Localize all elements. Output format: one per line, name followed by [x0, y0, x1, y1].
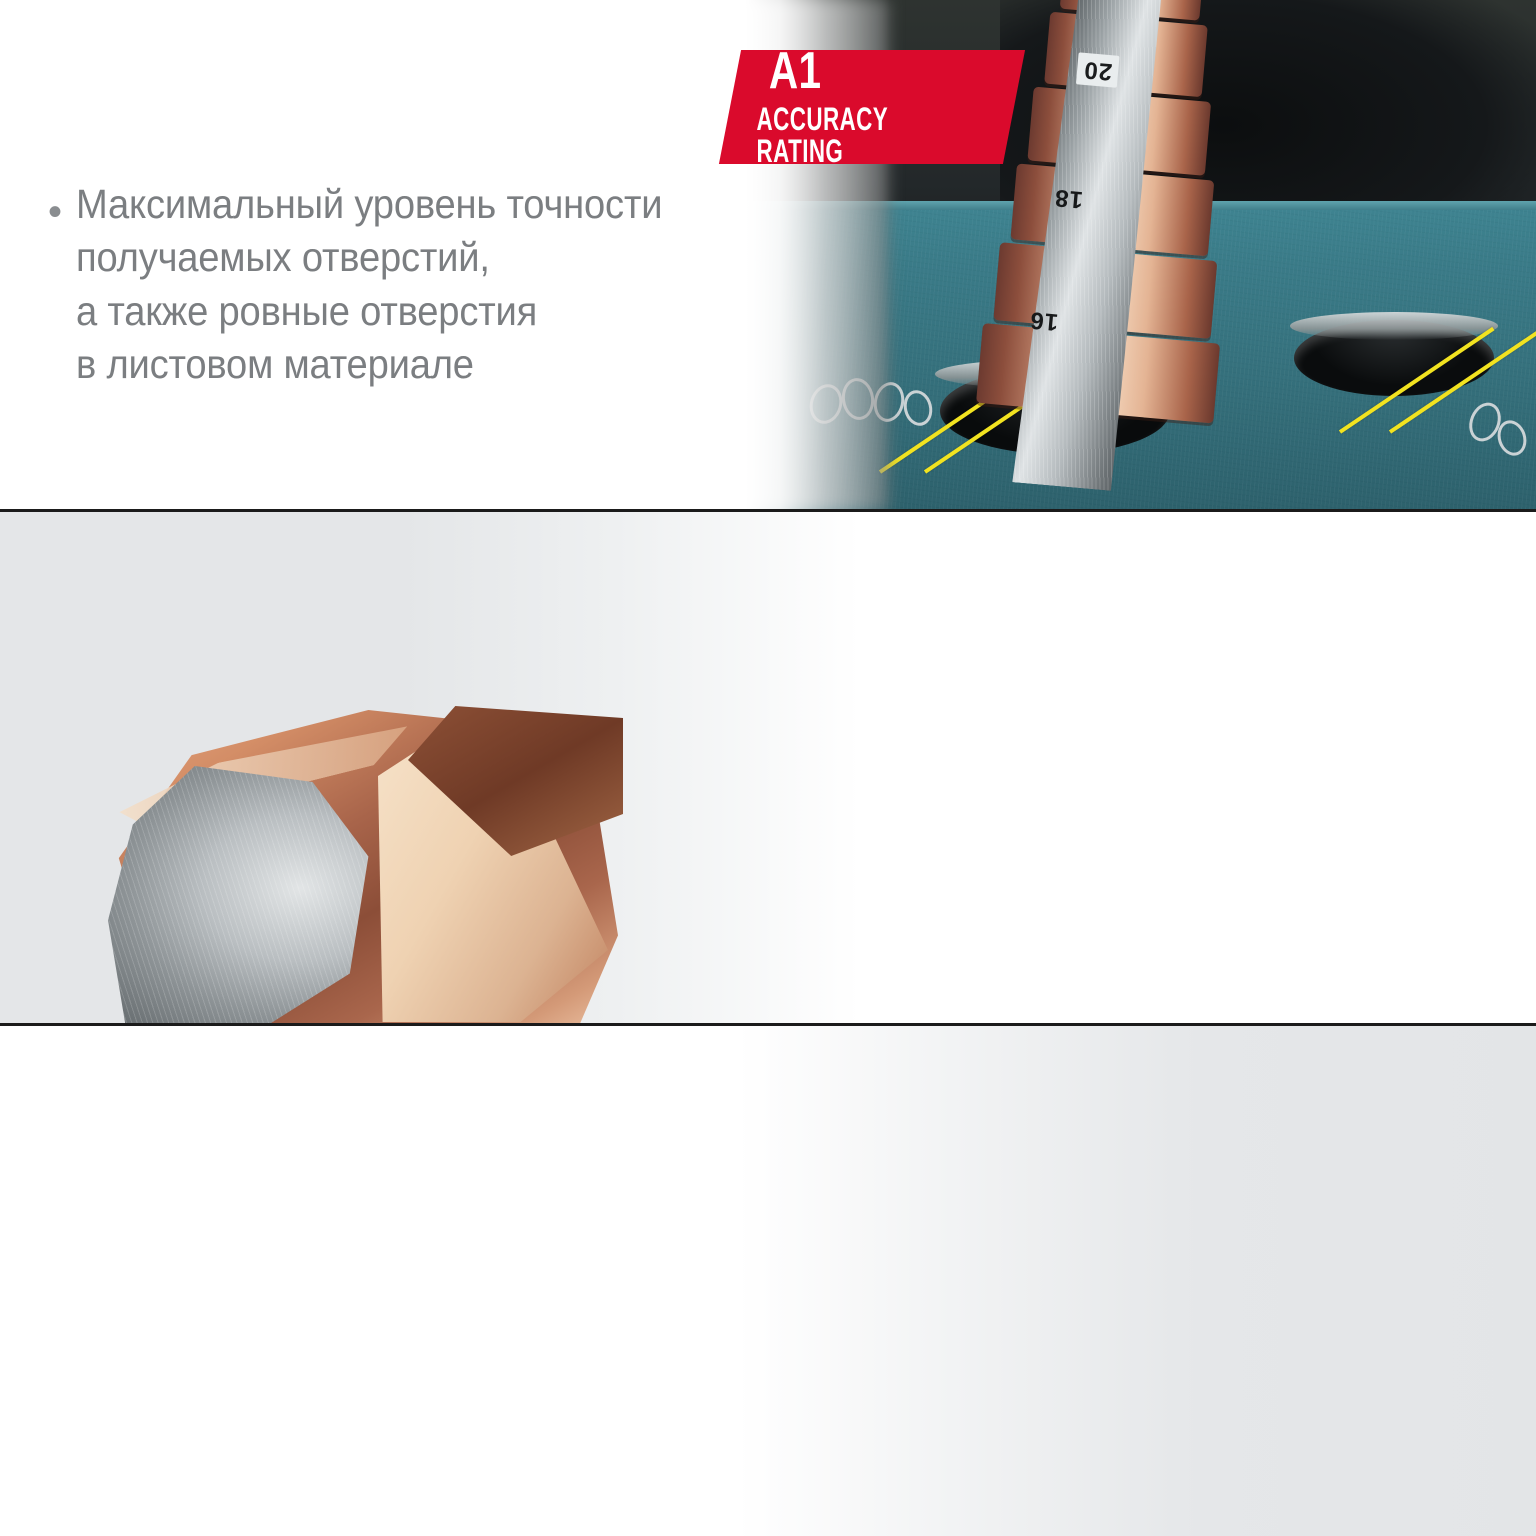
badge-title: A1 [769, 47, 966, 96]
photo-drill-point-closeup [78, 692, 638, 1024]
panel-cross-grinding: CROSS-GRINDING • Крестообразная подточка… [0, 512, 1536, 1024]
drilled-hole-right [1294, 320, 1494, 396]
badge-subtitle: ACCURACY RATING [757, 103, 933, 167]
badge-accuracy-rating: A1 ACCURACY RATING [719, 50, 1025, 164]
feature-text: Максимальный уровень точности получаемых… [76, 178, 662, 391]
panel-divider [0, 509, 1536, 512]
drill-size-mark: 18 [1053, 183, 1084, 213]
panel-accuracy: 22 20 18 16 A1 ACCURACY RATING • Максима… [0, 0, 1536, 510]
drill-size-mark: 20 [1076, 52, 1119, 87]
bullet-icon: • [48, 192, 62, 391]
feature-text-accuracy: • Максимальный уровень точности получаем… [48, 178, 828, 391]
panel-divider [0, 1023, 1536, 1026]
product-feature-page: 22 20 18 16 A1 ACCURACY RATING • Максима… [0, 0, 1536, 1536]
drill-size-mark: 16 [1028, 305, 1059, 335]
panel-angle: 135° ANGLE ATTHETOP • Угол заточки, при … [0, 1026, 1536, 1536]
